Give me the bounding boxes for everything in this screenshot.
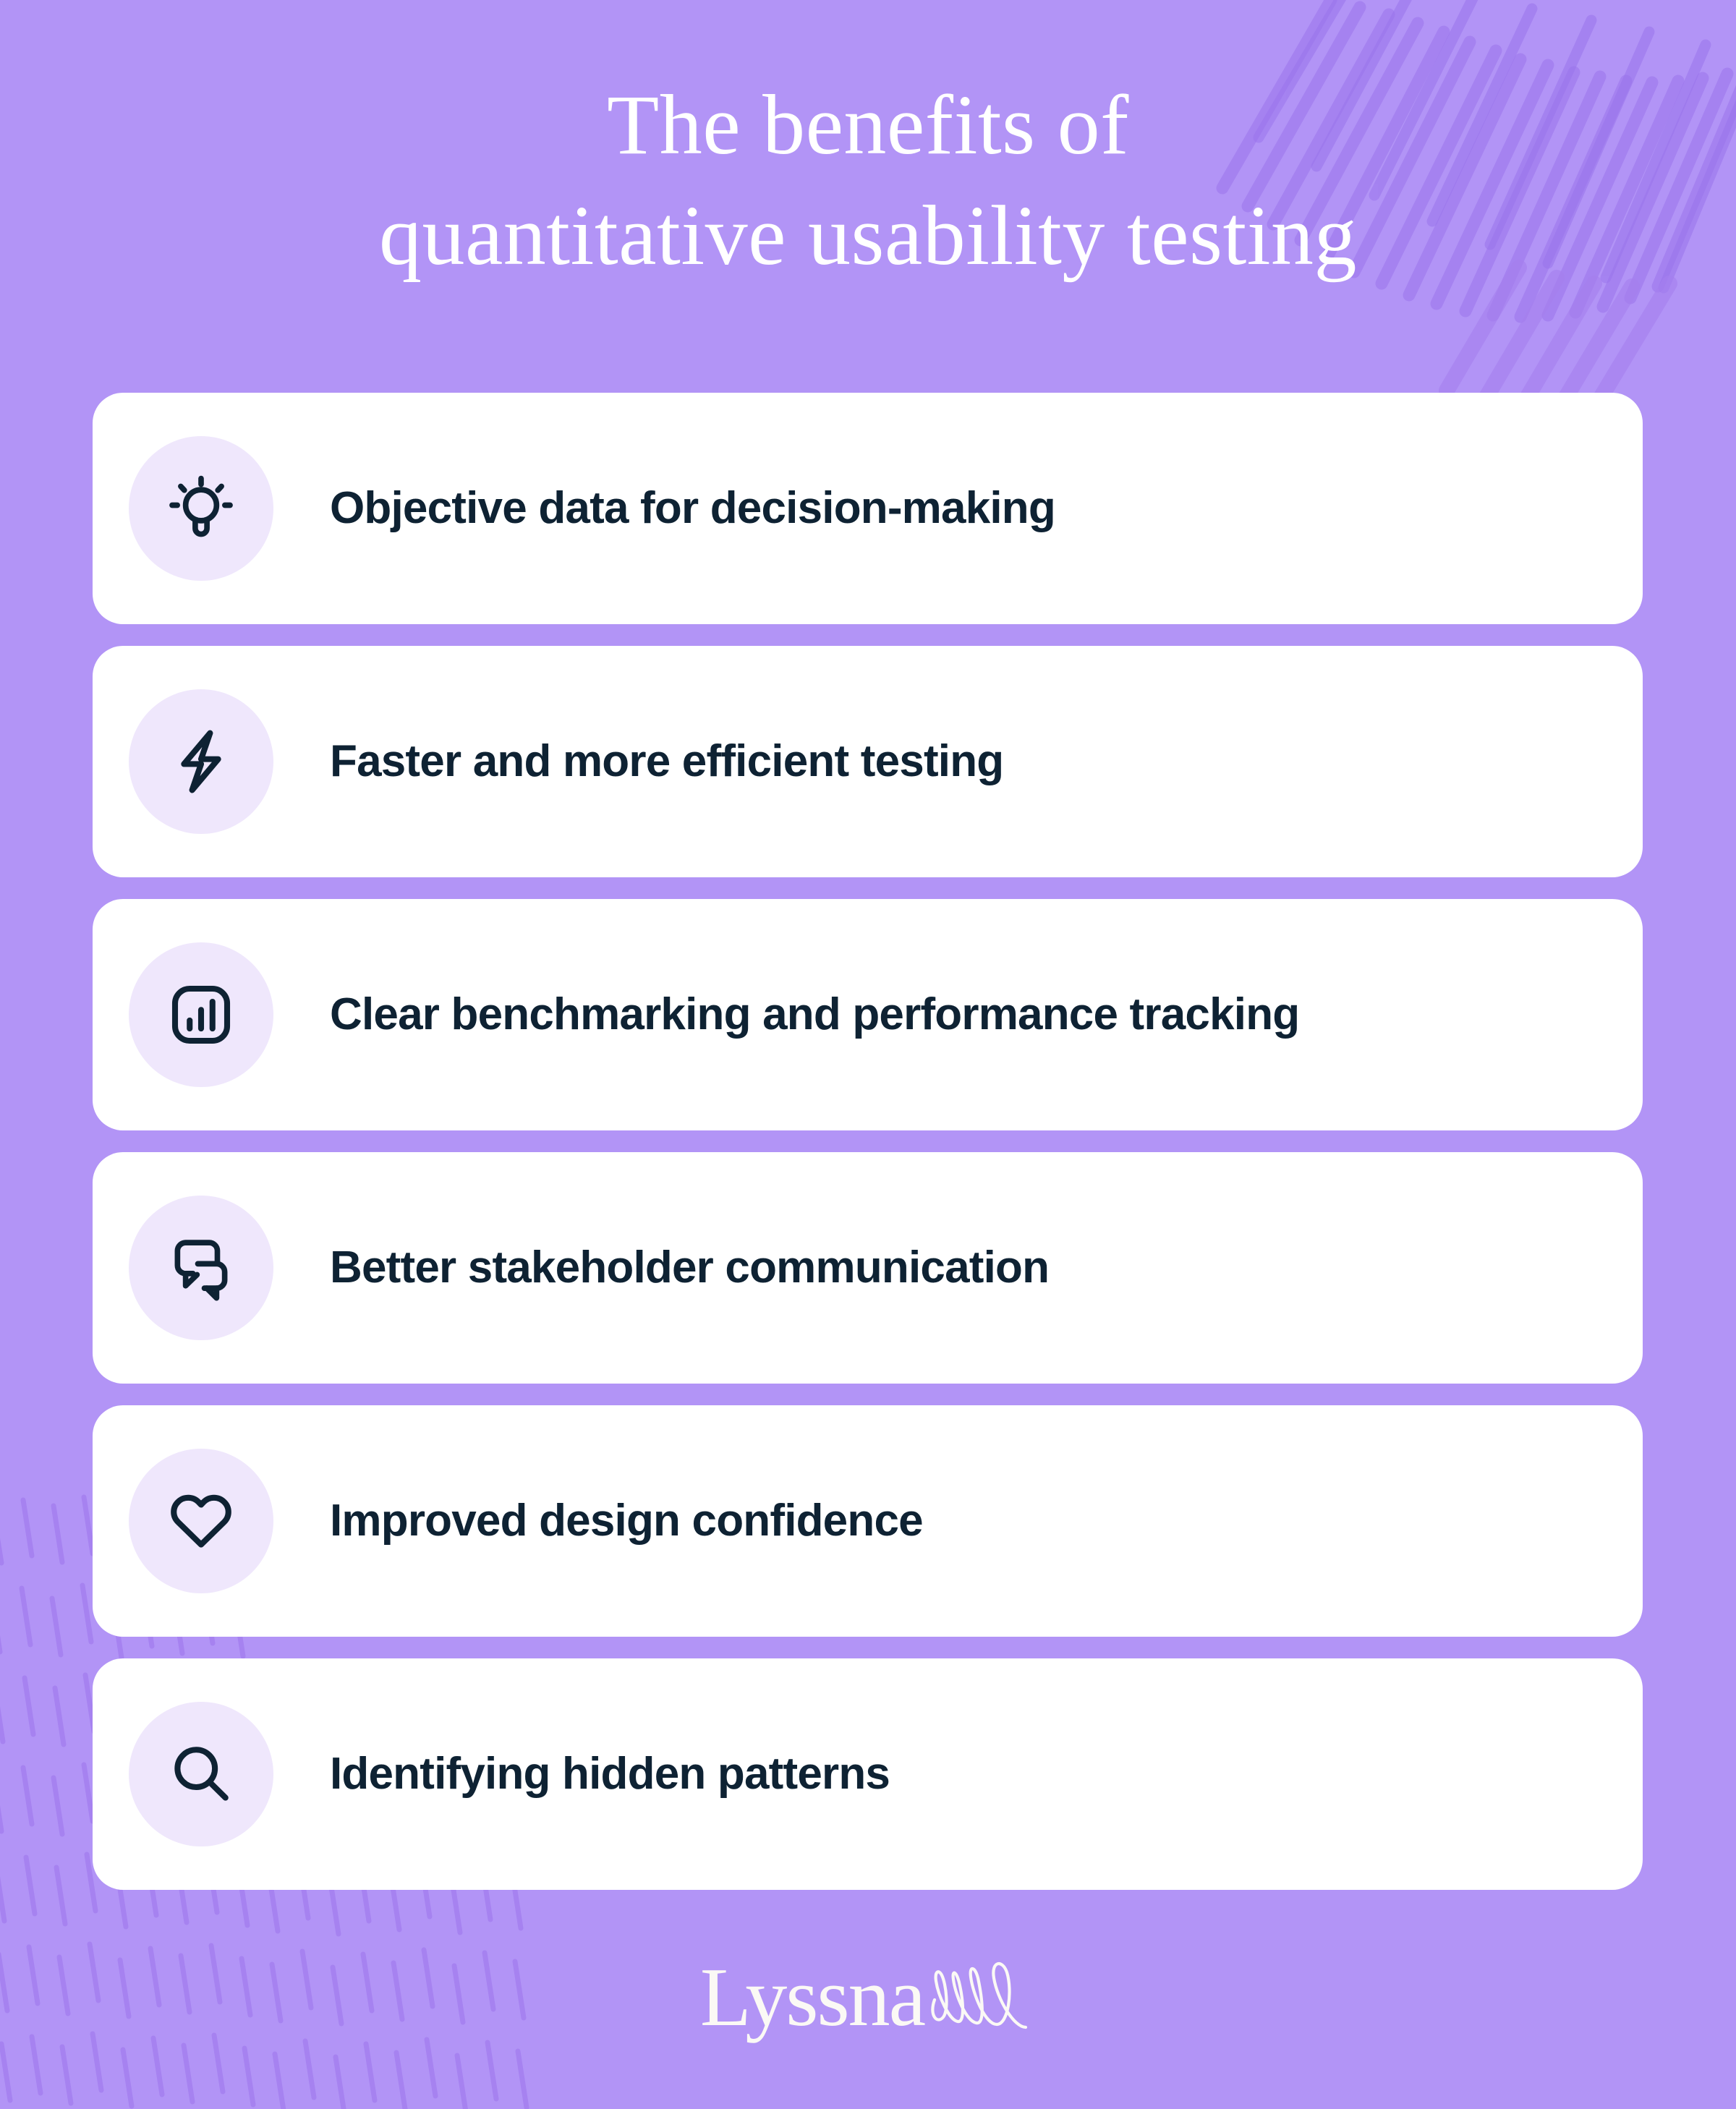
benefit-label: Faster and more efficient testing: [330, 736, 1003, 787]
benefit-card-hidden-patterns[interactable]: Identifying hidden patterns: [93, 1658, 1643, 1890]
benefit-label: Clear benchmarking and performance track…: [330, 989, 1299, 1040]
benefit-label: Identifying hidden patterns: [330, 1748, 890, 1799]
benefit-card-design-confidence[interactable]: Improved design confidence: [93, 1405, 1643, 1637]
benefit-label: Objective data for decision-making: [330, 482, 1055, 534]
squiggle-loops-icon: [927, 1958, 1036, 2033]
benefit-label: Improved design confidence: [330, 1495, 923, 1546]
page-title: The benefits of quantitative usability t…: [0, 69, 1736, 291]
benefit-card-benchmarking[interactable]: Clear benchmarking and performance track…: [93, 899, 1643, 1130]
brand-footer: Lyssna: [0, 1956, 1736, 2040]
heart-icon: [129, 1449, 273, 1593]
benefits-list: Objective data for decision-making Faste…: [93, 393, 1643, 1912]
chat-bubbles-icon: [129, 1196, 273, 1340]
benefit-label: Better stakeholder communication: [330, 1242, 1049, 1293]
lightbulb-icon: [129, 436, 273, 581]
magnifier-icon: [129, 1702, 273, 1846]
bar-chart-icon: [129, 942, 273, 1087]
lightning-bolt-icon: [129, 689, 273, 834]
benefit-card-stakeholder-communication[interactable]: Better stakeholder communication: [93, 1152, 1643, 1384]
title-line-1: The benefits of: [0, 69, 1736, 180]
poster-canvas: The benefits of quantitative usability t…: [0, 0, 1736, 2109]
benefit-card-faster-testing[interactable]: Faster and more efficient testing: [93, 646, 1643, 877]
title-line-2: quantitative usability testing: [0, 180, 1736, 291]
lyssna-wordmark: Lyssna: [700, 1956, 924, 2040]
benefit-card-objective-data[interactable]: Objective data for decision-making: [93, 393, 1643, 624]
